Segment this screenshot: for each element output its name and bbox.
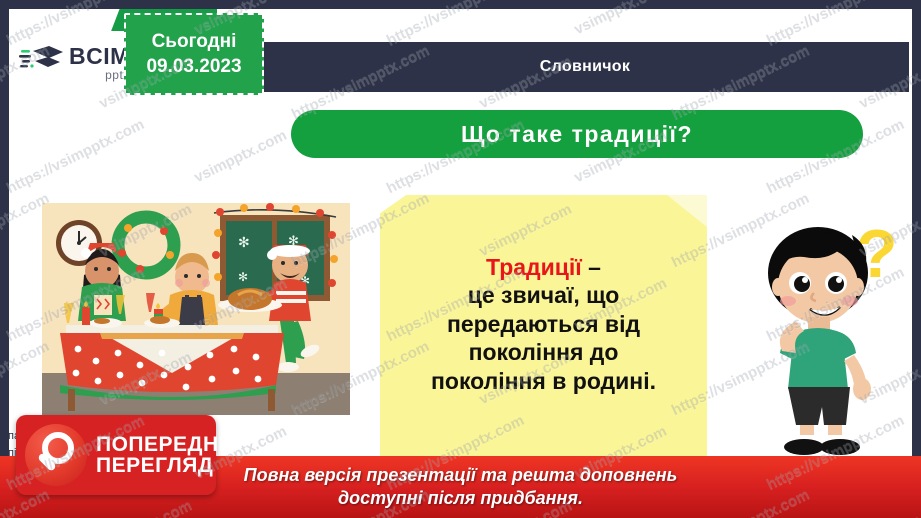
definition-note: Традиції – це звичаї, що передаються від… — [380, 195, 707, 457]
preview-badge-line-2: ПЕРЕГЛЯД — [96, 455, 241, 476]
purchase-notice-line-1: Повна версія презентації та решта доповн… — [244, 464, 678, 487]
presentation-slide: BCIM pptx Сьогодні 09.03.2023 Словничок … — [0, 0, 921, 518]
note-line-3: передаються від — [447, 310, 640, 339]
preview-badge: ПОПЕРЕДНІЙ ПЕРЕГЛЯД — [16, 415, 216, 495]
note-keyword: Традиції — [486, 254, 582, 280]
note-line-1-rest: – — [582, 254, 601, 280]
logo-subtitle: pptx — [69, 69, 130, 81]
note-line-1: Традиції – — [486, 253, 601, 282]
question-title-text: Що таке традиції? — [461, 121, 693, 148]
section-title: Словничок — [540, 58, 630, 76]
section-header-bar: Словничок — [261, 42, 909, 92]
date-badge: Сьогодні 09.03.2023 — [124, 13, 264, 95]
svg-text:✻: ✻ — [238, 270, 248, 284]
note-fold-corner — [667, 195, 707, 227]
svg-text:✻: ✻ — [238, 234, 250, 250]
preview-badge-line-1: ПОПЕРЕДНІЙ — [96, 434, 241, 455]
magnifier-icon — [25, 424, 87, 486]
date-label: Сьогодні — [152, 31, 237, 53]
purchase-notice-line-2: доступні після придбання. — [338, 487, 583, 510]
note-line-5: покоління в родині. — [431, 367, 656, 396]
date-value: 09.03.2023 — [146, 56, 241, 78]
graduation-cap-icon — [19, 44, 65, 82]
note-line-2: це звичаї, що — [468, 281, 620, 310]
christmas-family-dinner-illustration: ✻ ✻ ✻ ✻ — [42, 203, 350, 415]
thinking-boy-illustration: ? — [752, 205, 900, 455]
note-line-4: покоління до — [469, 338, 619, 367]
question-title-banner: Що таке традиції? — [291, 110, 863, 158]
logo-title: BCIM — [69, 45, 130, 68]
